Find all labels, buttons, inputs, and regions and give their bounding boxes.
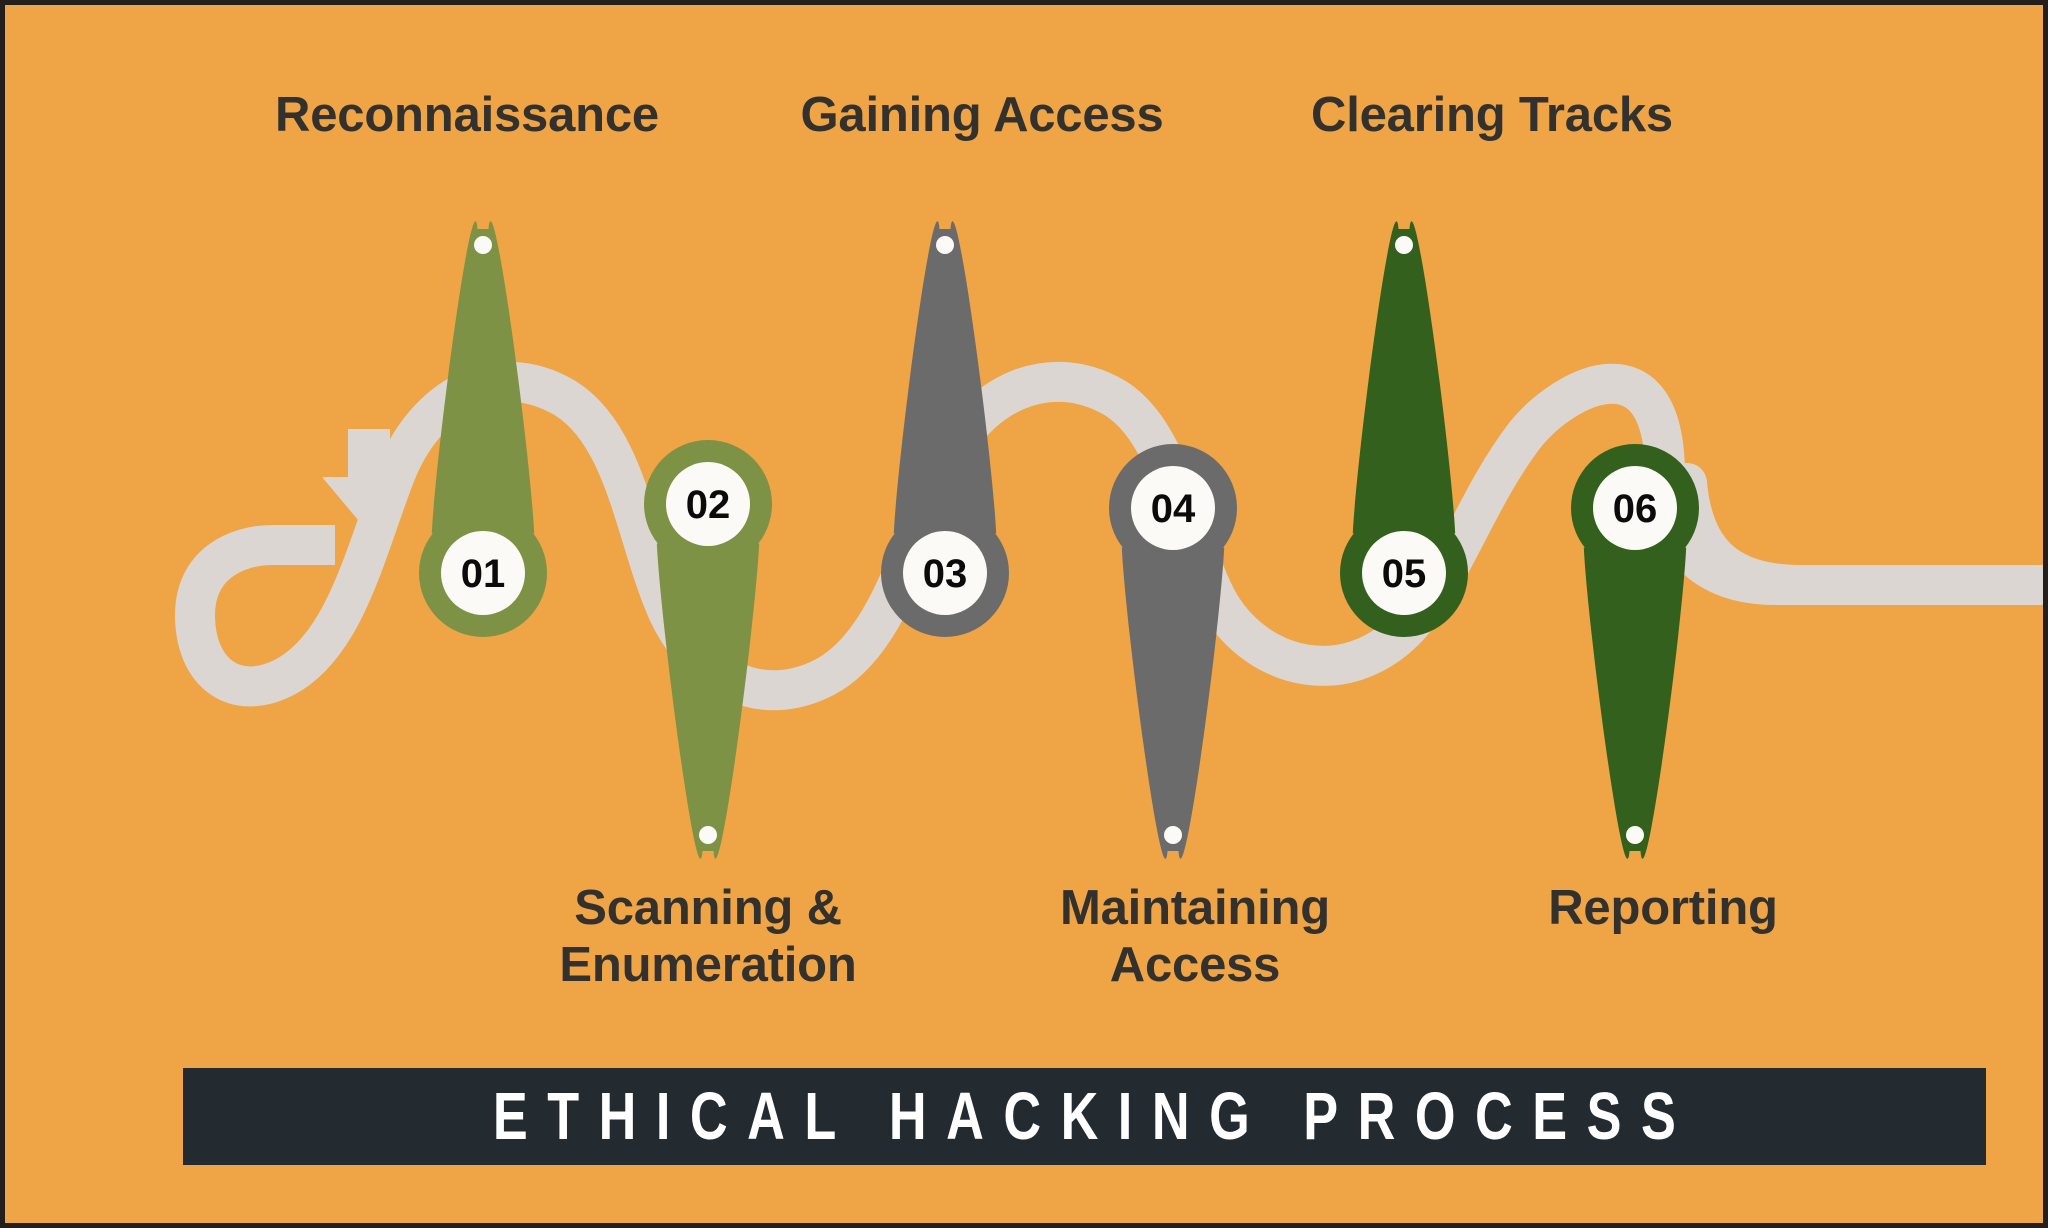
pin-number-03: 03 [923,552,968,596]
pin-stem [1353,221,1455,533]
pin-number-05: 05 [1382,552,1427,596]
pin-tip-dot [1164,826,1182,844]
pin-tip-dot [936,236,954,254]
step-label-06: Reporting [1548,880,1778,937]
step-label-04: Maintaining Access [1060,880,1330,994]
pin-number-01: 01 [461,552,506,596]
pin-number-06: 06 [1613,487,1658,531]
step-label-02: Scanning & Enumeration [559,880,856,994]
pin-stem [1584,548,1686,859]
pin-tip-dot [1395,236,1413,254]
pin-tip-dot [699,826,717,844]
process-diagram: 010203040506 [5,5,2048,1228]
pin-tip-dot [474,236,492,254]
step-label-03: Gaining Access [800,87,1163,144]
pin-number-04: 04 [1151,487,1196,531]
step-label-01: Reconnaissance [275,87,659,144]
pin-number-02: 02 [686,483,731,527]
title-banner: ETHICAL HACKING PROCESS [183,1068,1986,1165]
process-pins: 010203040506 [419,221,1699,859]
pin-stem [1122,548,1224,859]
page-title: ETHICAL HACKING PROCESS [474,1078,1696,1155]
process-pin-04[interactable]: 04 [1109,444,1237,859]
pin-tip-dot [1626,826,1644,844]
infographic-canvas: 010203040506 ReconnaissanceScanning & En… [0,0,2048,1228]
step-label-05: Clearing Tracks [1311,87,1673,144]
process-pin-06[interactable]: 06 [1571,444,1699,859]
process-pin-02[interactable]: 02 [644,440,772,859]
pin-stem [894,221,996,533]
process-pin-05[interactable]: 05 [1340,221,1468,637]
